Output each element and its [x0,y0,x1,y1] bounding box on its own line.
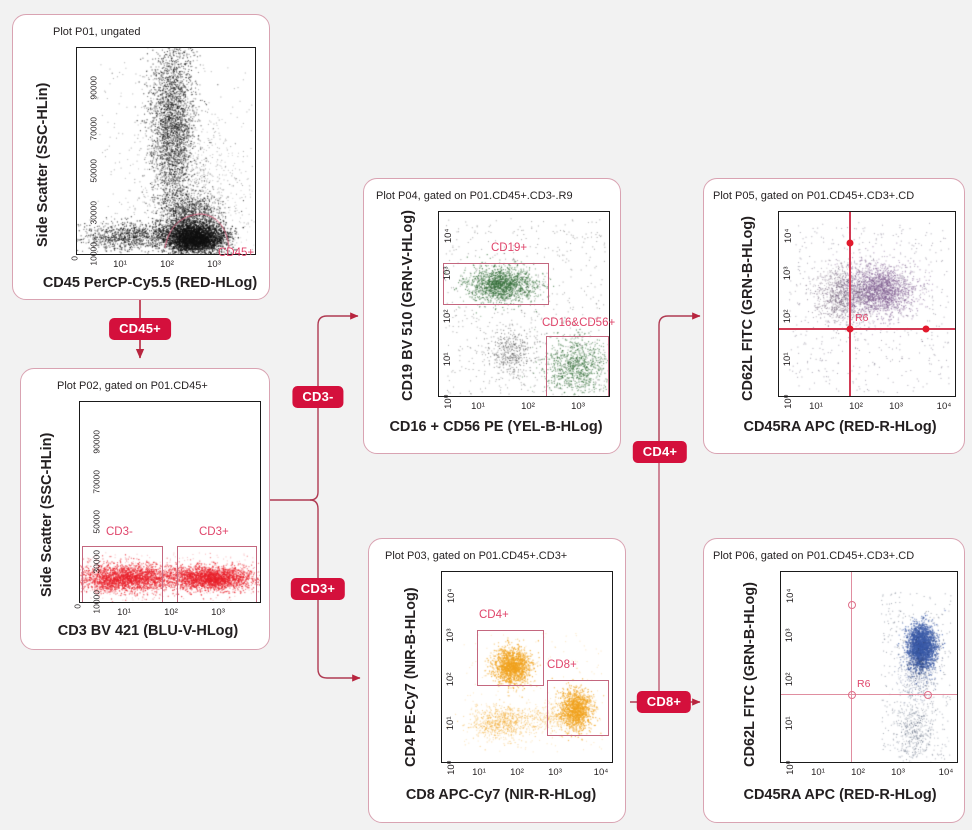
ytick-p01-10000: 10000 [89,242,99,266]
ytick-p03-4: 10⁴ [446,589,457,604]
xtick-p03-1: 10¹ [472,767,486,778]
xaxis-title-p02: CD3 BV 421 (BLU-V-HLog) [35,623,261,639]
plot-card-p06[interactable]: Plot P06, gated on P01.CD45+.CD3+.CD R6 … [703,538,965,823]
ytick-p01-50000: 50000 [89,159,99,183]
xaxis-title-p04: CD16 + CD56 PE (YEL-B-HLog) [374,419,618,435]
badge-cd4-plus[interactable]: CD4+ [633,441,687,463]
ytick-p06-4: 10⁴ [785,589,796,604]
scatter-canvas-p05 [779,212,956,397]
xtick-p04-2: 10² [521,401,535,412]
yaxis-title-p05: CD62L FITC (GRN-B-HLog) [740,216,756,401]
gating-strategy-figure: CD45+ CD3- CD3+ CD4+ CD8+ Plot P01, unga… [0,0,972,830]
gate-label-p01-cd45-plus: CD45+ [218,247,254,259]
plot-frame-p06: R6 [780,571,958,763]
xtick-p06-4: 10⁴ [939,767,954,778]
xtick-p02-1: 10¹ [117,607,131,618]
gate-label-p03-cd8-plus: CD8+ [547,659,577,671]
ytick-p04-2: 10² [442,310,453,324]
ytick-p03-2: 10² [445,673,456,687]
ytick-p03-3: 10³ [445,629,456,643]
xtick-p01-3: 10³ [207,259,221,270]
yaxis-title-p02: Side Scatter (SSC-HLin) [39,433,55,597]
ytick-p03-0: 10⁰ [446,761,457,775]
plot-frame-p04 [438,211,610,397]
scatter-canvas-p03 [442,572,613,763]
ytick-p05-2: 10² [782,310,793,324]
quadrant-handle-right-p05[interactable] [923,326,930,333]
xtick-p06-1: 10¹ [811,767,825,778]
plot-title-p05: Plot P05, gated on P01.CD45+.CD3+.CD [713,190,914,202]
xtick-p02-3: 10³ [211,607,225,618]
yaxis-title-p01: Side Scatter (SSC-HLin) [35,83,51,247]
xtick-p05-3: 10³ [889,401,903,412]
gate-label-p02-cd3-minus: CD3- [106,526,133,538]
xtick-p01-1: 10¹ [113,259,127,270]
xaxis-title-p06: CD45RA APC (RED-R-HLog) [718,787,962,803]
plot-card-p05[interactable]: Plot P05, gated on P01.CD45+.CD3+.CD R6 … [703,178,965,454]
ytick-p02-30000: 30000 [92,550,102,574]
ytick-p05-0: 10⁰ [783,395,794,409]
ytick-p05-4: 10⁴ [783,229,794,244]
xtick-p02-2: 10² [164,607,178,618]
xtick-p04-1: 10¹ [471,401,485,412]
ytick-p04-4: 10⁴ [443,229,454,244]
ytick-p01-30000: 30000 [89,201,99,225]
ytick-p02-0: 0 [73,604,83,609]
plot-frame-p03 [441,571,613,763]
scatter-canvas-p02 [80,402,261,603]
xtick-p05-1: 10¹ [809,401,823,412]
scatter-canvas-p04 [439,212,610,397]
connector-cd3-minus [310,316,358,500]
ytick-p05-1: 10¹ [782,353,793,367]
quadrant-handle-top-p05[interactable] [847,240,854,247]
ytick-p04-0: 10⁰ [443,395,454,409]
xtick-p03-3: 10³ [548,767,562,778]
xtick-p05-2: 10² [849,401,863,412]
ytick-p06-2: 10² [784,673,795,687]
plot-title-p03: Plot P03, gated on P01.CD45+.CD3+ [385,550,567,562]
xtick-p05-4: 10⁴ [937,401,952,412]
scatter-canvas-p01 [77,48,256,255]
xtick-p04-3: 10³ [571,401,585,412]
ytick-p04-1: 10¹ [442,353,453,367]
xaxis-title-p05: CD45RA APC (RED-R-HLog) [718,419,962,435]
yaxis-title-p03: CD4 PE-Cy7 (NIR-B-HLog) [403,587,419,767]
plot-title-p06: Plot P06, gated on P01.CD45+.CD3+.CD [713,550,914,562]
quadrant-handle-center-p05[interactable] [847,326,854,333]
plot-frame-p05: R6 [778,211,956,397]
ytick-p02-90000: 90000 [92,430,102,454]
ytick-p02-10000: 10000 [92,590,102,614]
scatter-canvas-p06 [781,572,958,763]
plot-frame-p02 [79,401,261,603]
ytick-p06-0: 10⁰ [785,761,796,775]
xaxis-title-p01: CD45 PerCP-Cy5.5 (RED-HLog) [35,275,265,291]
xaxis-title-p03: CD8 APC-Cy7 (NIR-R-HLog) [379,787,623,803]
plot-frame-p01 [76,47,256,255]
ytick-p03-1: 10¹ [445,717,456,731]
plot-title-p02: Plot P02, gated on P01.CD45+ [57,380,208,392]
quadrant-label-p06: R6 [857,678,870,690]
plot-card-p02[interactable]: Plot P02, gated on P01.CD45+ CD3- CD3+ 0… [20,368,270,650]
ytick-p01-90000: 90000 [89,76,99,100]
gate-label-p03-cd4-plus: CD4+ [479,609,509,621]
quadrant-handle-top-p06[interactable] [848,601,856,609]
plot-card-p03[interactable]: Plot P03, gated on P01.CD45+.CD3+ CD4+ C… [368,538,626,823]
xtick-p06-2: 10² [851,767,865,778]
ytick-p01-0: 0 [70,256,80,261]
quadrant-handle-right-p06[interactable] [924,691,932,699]
quadrant-label-p05: R6 [855,312,868,324]
ytick-p01-70000: 70000 [89,117,99,141]
ytick-p02-50000: 50000 [92,510,102,534]
plot-card-p01[interactable]: Plot P01, ungated 0 10000 30000 50000 70… [12,14,270,300]
ytick-p02-70000: 70000 [92,470,102,494]
xtick-p01-2: 10² [160,259,174,270]
badge-cd3-plus[interactable]: CD3+ [291,578,345,600]
plot-title-p01: Plot P01, ungated [53,26,140,38]
yaxis-title-p04: CD19 BV 510 (GRN-V-HLog) [400,210,416,401]
ytick-p05-3: 10³ [782,267,793,281]
ytick-p06-3: 10³ [784,629,795,643]
badge-cd8-plus[interactable]: CD8+ [637,691,691,713]
badge-cd3-minus[interactable]: CD3- [292,386,343,408]
gate-label-p04-cd16-cd56-plus: CD16&CD56+ [542,317,615,329]
plot-card-p04[interactable]: Plot P04, gated on P01.CD45+.CD3-.R9 CD1… [363,178,621,454]
ytick-p06-1: 10¹ [784,717,795,731]
xtick-p03-4: 10⁴ [594,767,609,778]
quadrant-handle-center-p06[interactable] [848,691,856,699]
gate-label-p02-cd3-plus: CD3+ [199,526,229,538]
yaxis-title-p06: CD62L FITC (GRN-B-HLog) [742,582,758,767]
connector-cd4-plus [659,316,700,452]
ytick-p04-3: 10³ [442,267,453,281]
plot-title-p04: Plot P04, gated on P01.CD45+.CD3-.R9 [376,190,573,202]
badge-cd45-plus[interactable]: CD45+ [109,318,171,340]
xtick-p06-3: 10³ [891,767,905,778]
gate-label-p04-cd19-plus: CD19+ [491,242,527,254]
xtick-p03-2: 10² [510,767,524,778]
